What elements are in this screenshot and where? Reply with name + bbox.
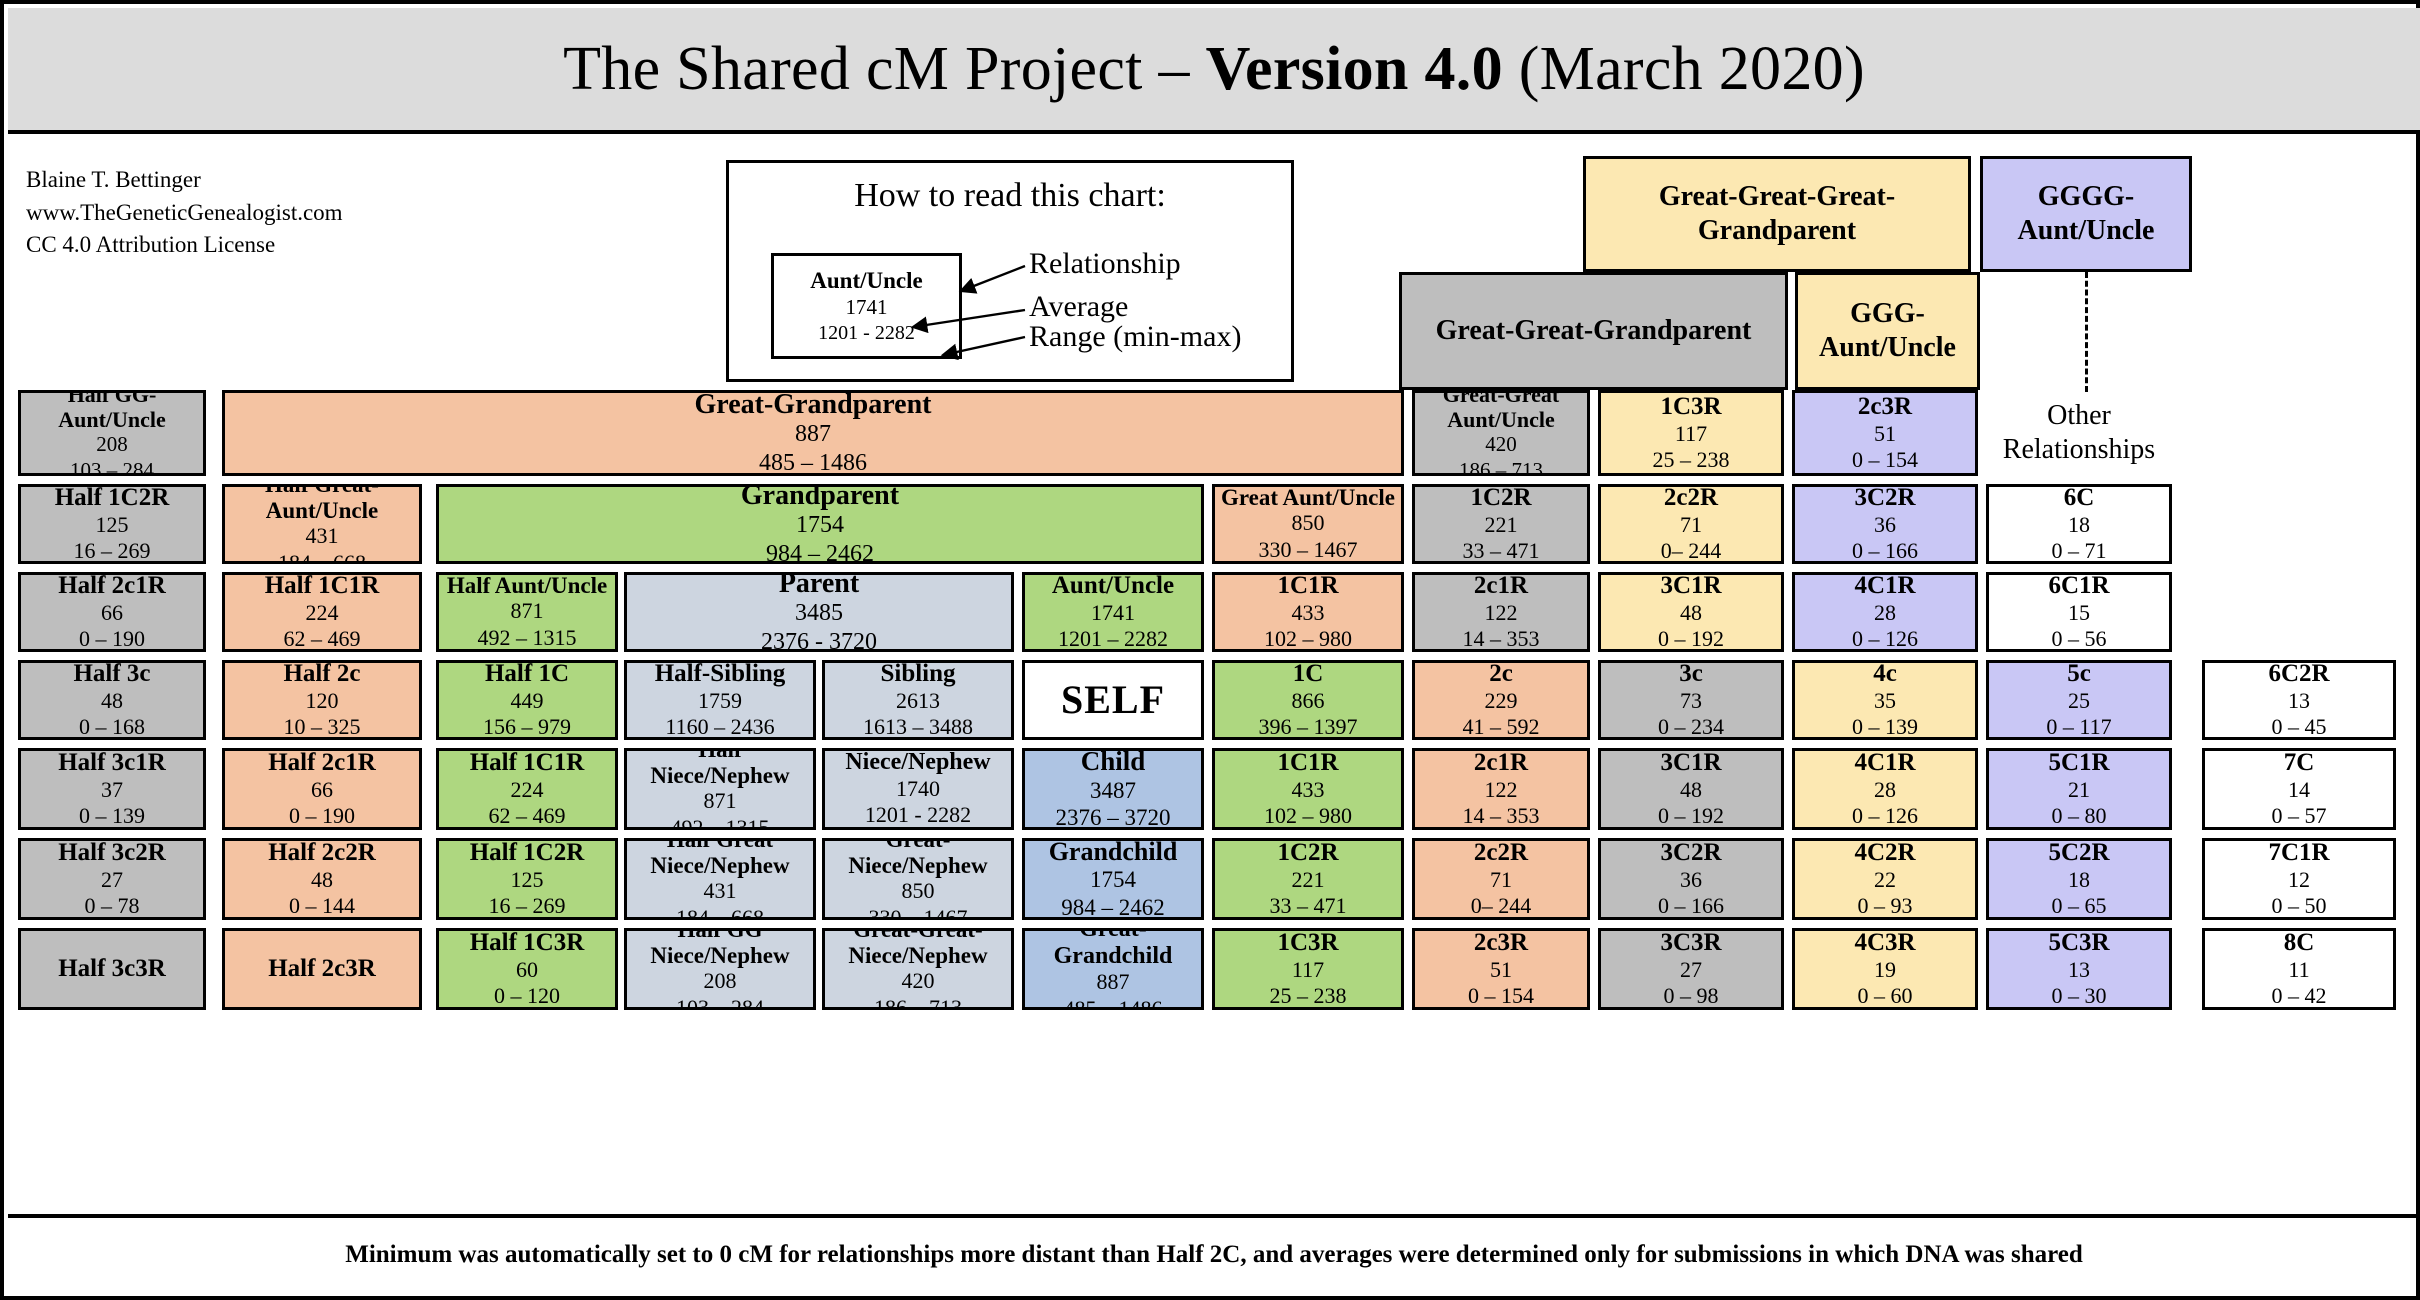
relationship-cell[interactable]: 3C3R270 – 98 [1598, 928, 1784, 1010]
range-cm: 14 – 353 [1463, 626, 1540, 652]
relationship-cell[interactable]: 6C1R150 – 56 [1986, 572, 2172, 652]
average-cm: 14 [2288, 777, 2310, 803]
range-cm: 492 – 1315 [478, 625, 577, 651]
average-cm: 71 [1490, 867, 1512, 893]
average-cm: 887 [1097, 969, 1130, 995]
average-cm: 3487 [1090, 777, 1136, 805]
relationship-cell[interactable]: Half 3c2R270 – 78 [18, 838, 206, 920]
ancestor-label: GGG-Aunt/Uncle [1798, 297, 1977, 364]
ancestor-label: GGGG-Aunt/Uncle [1983, 180, 2189, 247]
title-part-2: (March 2020) [1503, 35, 1865, 103]
relationship-name: 1C2R [1470, 484, 1531, 512]
relationship-name: Half-Sibling [655, 660, 786, 688]
relationship-cell[interactable]: Aunt/Uncle17411201 – 2282 [1022, 572, 1204, 652]
range-cm: 0– 244 [1661, 538, 1722, 564]
relationship-cell[interactable]: Parent34852376 - 3720 [624, 572, 1014, 652]
average-cm: 21 [2068, 777, 2090, 803]
relationship-name: 5C3R [2048, 929, 2109, 957]
average-cm: 13 [2068, 957, 2090, 983]
relationship-cell[interactable]: 1C2R22133 – 471 [1412, 484, 1590, 564]
range-cm: 330 – 1467 [869, 905, 968, 920]
relationship-name: Great-Grandchild [1025, 928, 1201, 969]
relationship-cell[interactable]: Half 1C3R600 – 120 [436, 928, 618, 1010]
range-cm: 0 – 190 [79, 626, 145, 652]
relationship-name: Half 3c1R [58, 749, 166, 777]
relationship-name: 4C3R [1854, 929, 1915, 957]
average-cm: 51 [1874, 421, 1896, 447]
average-cm: 15 [2068, 600, 2090, 626]
relationship-name: Half 2c2R [268, 839, 376, 867]
average-cm: 1754 [796, 511, 844, 540]
ancestor-label: Great-Great-Grandparent [1436, 314, 1752, 348]
relationship-name: SELF [1061, 678, 1165, 723]
range-cm: 186 – 713 [1459, 458, 1543, 476]
footer-note-bar: Minimum was automatically set to 0 cM fo… [8, 1214, 2420, 1292]
relationship-name: 1C3R [1277, 929, 1338, 957]
range-cm: 1201 - 2282 [865, 802, 971, 828]
range-cm: 0 – 126 [1852, 803, 1918, 829]
relationship-cell[interactable]: 1C3R11725 – 238 [1212, 928, 1404, 1010]
relationship-cell[interactable]: 3C1R480 – 192 [1598, 748, 1784, 830]
range-cm: 25 – 238 [1653, 447, 1730, 473]
average-cm: 13 [2288, 688, 2310, 714]
relationship-name: Half 2c3R [268, 955, 376, 983]
relationship-cell[interactable]: 1C3R11725 – 238 [1598, 390, 1784, 476]
chart-header: The Shared cM Project – Version 4.0 (Mar… [8, 8, 2420, 134]
label-range: Range (min-max) [1029, 320, 1241, 354]
relationship-cell[interactable]: 6C2R130 – 45 [2202, 660, 2396, 740]
relationship-name: 3C2R [1660, 839, 1721, 867]
relationship-name: 3c [1679, 660, 1703, 688]
relationship-cell[interactable]: 4c350 – 139 [1792, 660, 1978, 740]
relationship-name: 2c1R [1474, 572, 1528, 600]
relationship-name: Child [1081, 748, 1146, 777]
average-cm: 208 [704, 968, 737, 994]
relationship-cell[interactable]: 1C1R433102 – 980 [1212, 748, 1404, 830]
relationship-cell[interactable]: Great-Great-Niece/Nephew420186 – 713 [822, 928, 1014, 1010]
relationship-name: 2c3R [1474, 929, 1528, 957]
average-cm: 12 [2288, 867, 2310, 893]
relationship-cell[interactable]: Half 1C449156 – 979 [436, 660, 618, 740]
how-to-read-title: How to read this chart: [729, 177, 1291, 215]
relationship-name: Great-Great Aunt/Uncle [1415, 390, 1587, 432]
average-cm: 125 [511, 867, 544, 893]
relationship-cell[interactable]: Half Great Niece/Nephew431184 – 668 [624, 838, 816, 920]
relationship-name: 2c2R [1474, 839, 1528, 867]
range-cm: 0 – 71 [2052, 538, 2107, 564]
relationship-cell[interactable]: Half 3c1R370 – 139 [18, 748, 206, 830]
relationship-name: Half Aunt/Uncle [447, 573, 607, 599]
relationship-name: Great-Great-Niece/Nephew [825, 928, 1011, 968]
relationship-cell[interactable]: Half 3c480 – 168 [18, 660, 206, 740]
range-cm: 0 – 192 [1658, 803, 1724, 829]
relationship-cell[interactable]: Great-Grandparent887485 – 1486 [222, 390, 1404, 476]
range-cm: 0 – 139 [79, 803, 145, 829]
range-cm: 14 – 353 [1463, 803, 1540, 829]
relationship-cell[interactable]: Half Niece/Nephew871492 – 1315 [624, 748, 816, 830]
average-cm: 224 [511, 777, 544, 803]
footer-note: Minimum was automatically set to 0 cM fo… [345, 1241, 2083, 1269]
average-cm: 2613 [896, 688, 940, 714]
relationship-cell[interactable]: 2c3R510 – 154 [1412, 928, 1590, 1010]
average-cm: 60 [516, 957, 538, 983]
relationship-cell[interactable]: 3C2R360 – 166 [1598, 838, 1784, 920]
relationship-name: Half 2c1R [58, 572, 166, 600]
relationship-name: 3C3R [1660, 929, 1721, 957]
relationship-cell[interactable]: 3C2R360 – 166 [1792, 484, 1978, 564]
average-cm: 1740 [896, 776, 940, 802]
relationship-name: 3C1R [1660, 749, 1721, 777]
average-cm: 420 [902, 968, 935, 994]
relationship-name: 4c [1873, 660, 1897, 688]
relationship-name: 5C1R [2048, 749, 2109, 777]
range-cm: 0 – 93 [1858, 893, 1913, 919]
gggg-connector-line [2085, 272, 2088, 392]
relationship-cell[interactable]: Half-Sibling17591160 – 2436 [624, 660, 816, 740]
relationship-name: 4C2R [1854, 839, 1915, 867]
range-cm: 0 – 98 [1664, 983, 1719, 1009]
range-cm: 102 – 980 [1264, 803, 1352, 829]
average-cm: 229 [1485, 688, 1518, 714]
relationship-name: 6C1R [2048, 572, 2109, 600]
relationship-name: Half Great Niece/Nephew [627, 838, 813, 878]
relationship-name: Parent [779, 572, 859, 599]
range-cm: 0 – 65 [2052, 893, 2107, 919]
relationship-name: Half Great-Aunt/Uncle [225, 484, 419, 523]
average-cm: 433 [1292, 777, 1325, 803]
relationship-name: Great Aunt/Uncle [1221, 485, 1395, 511]
relationship-cell[interactable]: 2c2R710– 244 [1598, 484, 1784, 564]
relationship-cell[interactable]: Half 1C1R22462 – 469 [222, 572, 422, 652]
relationship-name: 1C1R [1277, 572, 1338, 600]
credit-website: www.TheGeneticGenealogist.com [26, 197, 343, 230]
credit-license: CC 4.0 Attribution License [26, 229, 343, 262]
relationship-cell[interactable]: 2c1R12214 – 353 [1412, 748, 1590, 830]
relationship-name: 2c2R [1664, 484, 1718, 512]
relationship-name: 3C1R [1660, 572, 1721, 600]
range-cm: 16 – 269 [74, 538, 151, 564]
credit-block: Blaine T. Bettinger www.TheGeneticGeneal… [26, 164, 343, 262]
average-cm: 431 [704, 878, 737, 904]
shared-cm-project-chart: The Shared cM Project – Version 4.0 (Mar… [0, 0, 2420, 1300]
average-cm: 18 [2068, 867, 2090, 893]
relationship-name: Half 1C1R [265, 572, 380, 600]
relationship-name: 4C1R [1854, 749, 1915, 777]
range-cm: 102 – 980 [1264, 626, 1352, 652]
average-cm: 48 [311, 867, 333, 893]
relationship-cell[interactable]: 2c3R510 – 154 [1792, 390, 1978, 476]
range-cm: 0 – 154 [1852, 447, 1918, 473]
other-relationships-label: Other Relationships [1986, 390, 2172, 476]
relationship-cell[interactable]: 3C1R480 – 192 [1598, 572, 1784, 652]
relationship-cell[interactable]: 5c250 – 117 [1986, 660, 2172, 740]
relationship-cell[interactable]: 7C140 – 57 [2202, 748, 2396, 830]
relationship-cell[interactable]: Half 2c1R660 – 190 [222, 748, 422, 830]
range-cm: 1201 – 2282 [1058, 626, 1168, 652]
relationship-cell[interactable]: 4C2R220 – 93 [1792, 838, 1978, 920]
range-cm: 186 – 713 [874, 995, 962, 1010]
range-cm: 0 – 192 [1658, 626, 1724, 652]
relationship-cell[interactable]: Child34872376 – 3720 [1022, 748, 1204, 830]
range-cm: 62 – 469 [489, 803, 566, 829]
range-cm: 2376 – 3720 [1056, 804, 1171, 830]
relationship-name: 5c [2067, 660, 2091, 688]
relationship-cell[interactable]: Half 1C2R12516 – 269 [18, 484, 206, 564]
relationship-name: Half 2c [283, 660, 360, 688]
average-cm: 27 [101, 867, 123, 893]
range-cm: 0 – 30 [2052, 983, 2107, 1009]
average-cm: 71 [1680, 512, 1702, 538]
ancestor-box-3: GGG-Aunt/Uncle [1795, 272, 1980, 390]
relationship-cell[interactable]: SELF [1022, 660, 1204, 740]
relationship-name: Half 2c1R [268, 749, 376, 777]
range-cm: 492 – 1315 [671, 815, 770, 830]
range-cm: 10 – 325 [284, 714, 361, 740]
relationship-cell[interactable]: 2c1R12214 – 353 [1412, 572, 1590, 652]
relationship-name: 5C2R [2048, 839, 2109, 867]
range-cm: 0 – 139 [1852, 714, 1918, 740]
relationship-cell[interactable]: 6C180 – 71 [1986, 484, 2172, 564]
average-cm: 51 [1490, 957, 1512, 983]
relationship-cell[interactable]: 8C110 – 42 [2202, 928, 2396, 1010]
range-cm: 984 – 2462 [1061, 894, 1165, 920]
range-cm: 0 – 190 [289, 803, 355, 829]
relationship-name: Great-Grandparent [695, 390, 932, 420]
relationship-cell[interactable]: Half 1C2R12516 – 269 [436, 838, 618, 920]
page-title: The Shared cM Project – Version 4.0 (Mar… [563, 34, 1865, 105]
range-cm: 0 – 60 [1858, 983, 1913, 1009]
relationship-name: Half 1C2R [470, 839, 585, 867]
range-cm: 984 – 2462 [766, 540, 874, 564]
relationship-cell[interactable]: Half Aunt/Uncle871492 – 1315 [436, 572, 618, 652]
relationship-name: Half 1C1R [470, 749, 585, 777]
average-cm: 122 [1485, 777, 1518, 803]
relationship-cell[interactable]: Half GG-Aunt/Uncle208103 – 284 [18, 390, 206, 476]
relationship-name: 6C2R [2268, 660, 2329, 688]
range-cm: 0 – 45 [2272, 714, 2327, 740]
ancestor-box-0: Great-Great-Great-Grandparent [1583, 156, 1971, 272]
average-cm: 125 [96, 512, 129, 538]
average-cm: 73 [1680, 688, 1702, 714]
average-cm: 420 [1485, 432, 1517, 457]
range-cm: 62 – 469 [284, 626, 361, 652]
relationship-cell[interactable]: Great-Great Aunt/Uncle420186 – 713 [1412, 390, 1590, 476]
average-cm: 27 [1680, 957, 1702, 983]
relationship-cell[interactable]: Half 2c3R [222, 928, 422, 1010]
relationship-cell[interactable]: Half 2c2R480 – 144 [222, 838, 422, 920]
relationship-cell[interactable]: Great-Niece/Nephew850330 – 1467 [822, 838, 1014, 920]
relationship-name: Half GG Niece/Nephew [627, 928, 813, 968]
relationship-cell[interactable]: 7C1R120 – 50 [2202, 838, 2396, 920]
average-cm: 866 [1292, 688, 1325, 714]
relationship-name: Aunt/Uncle [1052, 572, 1174, 600]
average-cm: 66 [101, 600, 123, 626]
relationship-name: Half Niece/Nephew [627, 748, 813, 788]
title-part-1: The Shared cM Project – [563, 35, 1206, 103]
average-cm: 871 [511, 598, 544, 624]
range-cm: 485 – 1486 [1064, 996, 1163, 1010]
range-cm: 103 – 284 [70, 458, 154, 476]
relationship-cell[interactable]: 5C3R130 – 30 [1986, 928, 2172, 1010]
relationship-name: Grandparent [741, 484, 899, 511]
average-cm: 18 [2068, 512, 2090, 538]
range-cm: 330 – 1467 [1259, 537, 1358, 563]
relationship-cell[interactable]: Half 2c12010 – 325 [222, 660, 422, 740]
range-cm: 0 – 42 [2272, 983, 2327, 1009]
relationship-cell[interactable]: 4C1R280 – 126 [1792, 572, 1978, 652]
range-cm: 0 – 166 [1658, 893, 1724, 919]
relationship-cell[interactable]: 1C2R22133 – 471 [1212, 838, 1404, 920]
relationship-name: Great-Niece/Nephew [825, 838, 1011, 878]
average-cm: 37 [101, 777, 123, 803]
average-cm: 433 [1292, 600, 1325, 626]
range-cm: 2376 - 3720 [761, 628, 877, 652]
example-average: 1741 [846, 295, 888, 321]
relationship-cell[interactable]: 2c2R710– 244 [1412, 838, 1590, 920]
average-cm: 48 [1680, 777, 1702, 803]
range-cm: 41 – 592 [1463, 714, 1540, 740]
example-range: 1201 - 2282 [818, 321, 915, 345]
relationship-name: Half 1C2R [55, 484, 170, 512]
relationship-name: 1C [1293, 660, 1324, 688]
relationship-name: Half GG-Aunt/Uncle [21, 390, 203, 432]
relationship-name: 4C1R [1854, 572, 1915, 600]
range-cm: 16 – 269 [489, 893, 566, 919]
relationship-name: 2c [1489, 660, 1513, 688]
relationship-name: 2c1R [1474, 749, 1528, 777]
credit-author: Blaine T. Bettinger [26, 164, 343, 197]
average-cm: 431 [306, 523, 339, 549]
average-cm: 28 [1874, 777, 1896, 803]
relationship-name: Half 3c2R [58, 839, 166, 867]
average-cm: 36 [1680, 867, 1702, 893]
range-cm: 0 – 57 [2272, 803, 2327, 829]
average-cm: 19 [1874, 957, 1896, 983]
average-cm: 850 [1292, 510, 1325, 536]
range-cm: 184 – 668 [676, 905, 764, 920]
relationship-cell[interactable]: Half 1C1R22462 – 469 [436, 748, 618, 830]
range-cm: 0 – 80 [2052, 803, 2107, 829]
range-cm: 184 – 668 [278, 550, 366, 564]
relationship-cell[interactable]: 5C1R210 – 80 [1986, 748, 2172, 830]
average-cm: 3485 [795, 599, 843, 628]
relationship-cell[interactable]: 1C866396 – 1397 [1212, 660, 1404, 740]
relationship-cell[interactable]: Great-Grandchild887485 – 1486 [1022, 928, 1204, 1010]
range-cm: 0 – 78 [85, 893, 140, 919]
average-cm: 36 [1874, 512, 1896, 538]
relationship-cell[interactable]: Sibling26131613 – 3488 [822, 660, 1014, 740]
average-cm: 117 [1675, 421, 1707, 447]
average-cm: 117 [1292, 957, 1324, 983]
range-cm: 0 – 56 [2052, 626, 2107, 652]
how-to-read-example-cell: Aunt/Uncle 1741 1201 - 2282 [771, 253, 962, 359]
relationship-grid: Half GG-Aunt/Uncle208103 – 284Great-Gran… [18, 390, 2410, 1222]
relationship-name: Half 3c3R [58, 955, 166, 983]
ancestor-box-2: Great-Great-Grandparent [1399, 272, 1788, 390]
relationship-name: Grandchild [1049, 838, 1178, 866]
range-cm: 33 – 471 [1463, 538, 1540, 564]
range-cm: 1613 – 3488 [863, 714, 973, 740]
average-cm: 1759 [698, 688, 742, 714]
range-cm: 0 – 144 [289, 893, 355, 919]
relationship-cell[interactable]: Half Great-Aunt/Uncle431184 – 668 [222, 484, 422, 564]
average-cm: 48 [1680, 600, 1702, 626]
relationship-cell[interactable]: 1C1R433102 – 980 [1212, 572, 1404, 652]
label-relationship: Relationship [1029, 247, 1181, 281]
other-relationships-text: Other Relationships [2003, 399, 2155, 466]
relationship-name: Half 1C [485, 660, 569, 688]
relationship-cell[interactable]: Half 2c1R660 – 190 [18, 572, 206, 652]
title-version: Version 4.0 [1206, 35, 1503, 103]
range-cm: 485 – 1486 [759, 449, 867, 476]
average-cm: 1741 [1091, 600, 1135, 626]
average-cm: 224 [306, 600, 339, 626]
range-cm: 0 – 120 [494, 983, 560, 1009]
average-cm: 449 [511, 688, 544, 714]
range-cm: 0– 244 [1471, 893, 1532, 919]
range-cm: 0 – 234 [1658, 714, 1724, 740]
relationship-cell[interactable]: Niece/Nephew17401201 - 2282 [822, 748, 1014, 830]
relationship-cell[interactable]: 4C1R280 – 126 [1792, 748, 1978, 830]
relationship-cell[interactable]: Grandchild1754984 – 2462 [1022, 838, 1204, 920]
relationship-name: 1C2R [1277, 839, 1338, 867]
range-cm: 0 – 168 [79, 714, 145, 740]
relationship-cell[interactable]: Grandparent1754984 – 2462 [436, 484, 1204, 564]
average-cm: 221 [1485, 512, 1518, 538]
relationship-name: 6C [2064, 484, 2095, 512]
relationship-cell[interactable]: 3c730 – 234 [1598, 660, 1784, 740]
range-cm: 0 – 126 [1852, 626, 1918, 652]
range-cm: 0 – 117 [2046, 714, 2111, 740]
relationship-name: Niece/Nephew [845, 749, 990, 776]
relationship-name: 3C2R [1854, 484, 1915, 512]
range-cm: 0 – 166 [1852, 538, 1918, 564]
relationship-cell[interactable]: 4C3R190 – 60 [1792, 928, 1978, 1010]
relationship-name: Half 1C3R [470, 929, 585, 957]
label-average: Average [1029, 290, 1128, 324]
relationship-name: 7C1R [2268, 839, 2329, 867]
relationship-cell[interactable]: Half GG Niece/Nephew208103 – 284 [624, 928, 816, 1010]
average-cm: 48 [101, 688, 123, 714]
relationship-cell[interactable]: Half 3c3R [18, 928, 206, 1010]
relationship-cell[interactable]: 2c22941 – 592 [1412, 660, 1590, 740]
ancestor-box-1: GGGG-Aunt/Uncle [1980, 156, 2192, 272]
relationship-cell[interactable]: 5C2R180 – 65 [1986, 838, 2172, 920]
relationship-name: 2c3R [1858, 393, 1912, 421]
range-cm: 25 – 238 [1270, 983, 1347, 1009]
relationship-name: Half 3c [73, 660, 150, 688]
average-cm: 22 [1874, 867, 1896, 893]
relationship-name: Sibling [880, 660, 955, 688]
range-cm: 396 – 1397 [1259, 714, 1358, 740]
example-relationship: Aunt/Uncle [810, 267, 922, 295]
relationship-name: 8C [2284, 929, 2315, 957]
relationship-cell[interactable]: Great Aunt/Uncle850330 – 1467 [1212, 484, 1404, 564]
average-cm: 850 [902, 878, 935, 904]
average-cm: 25 [2068, 688, 2090, 714]
range-cm: 103 – 284 [676, 995, 764, 1010]
average-cm: 35 [1874, 688, 1896, 714]
range-cm: 0 – 50 [2272, 893, 2327, 919]
average-cm: 120 [306, 688, 339, 714]
average-cm: 208 [96, 432, 128, 457]
range-cm: 0 – 154 [1468, 983, 1534, 1009]
average-cm: 66 [311, 777, 333, 803]
average-cm: 28 [1874, 600, 1896, 626]
average-cm: 887 [795, 420, 831, 449]
average-cm: 1754 [1090, 866, 1136, 894]
relationship-name: 1C1R [1277, 749, 1338, 777]
